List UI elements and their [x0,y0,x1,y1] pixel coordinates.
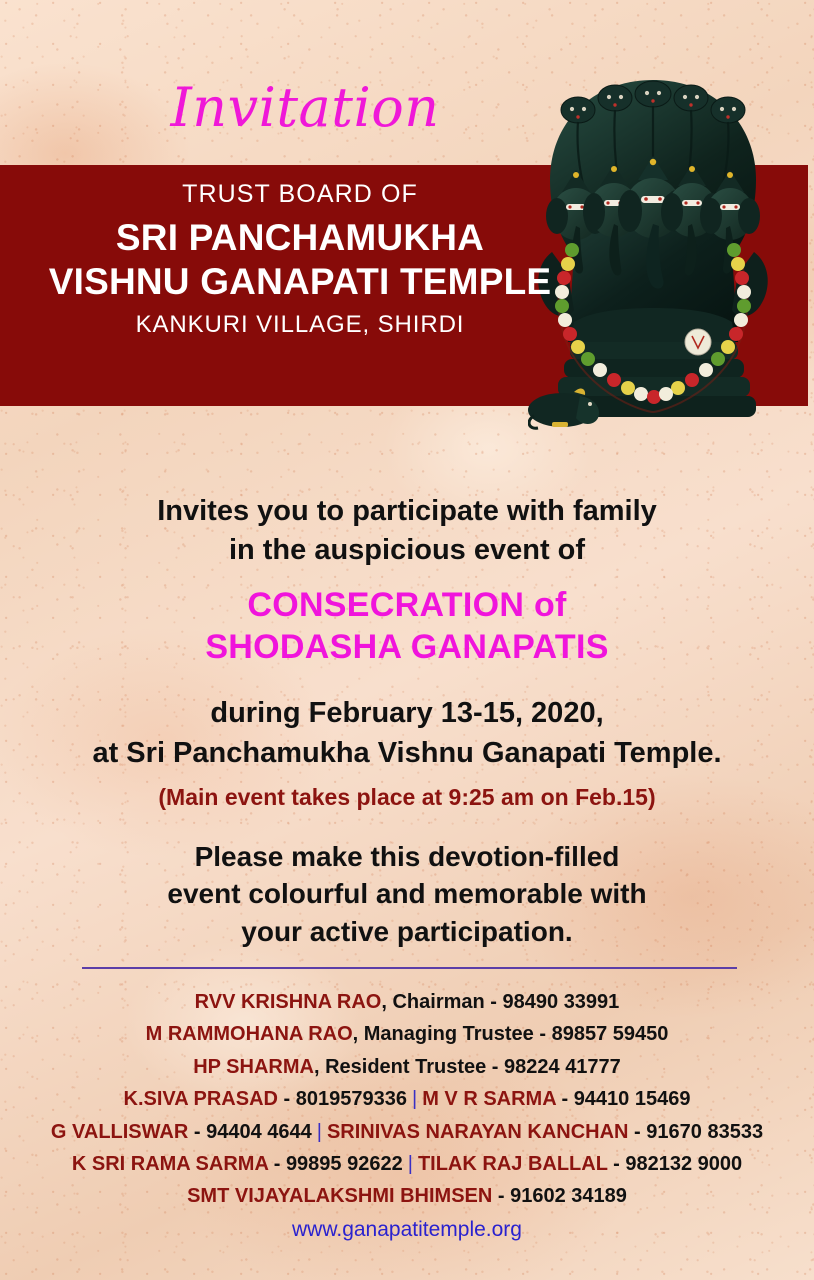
event-name-line-2: SHODASHA GANAPATIS [0,627,814,668]
banner-text-block: TRUST BOARD OF SRI PANCHAMUKHA VISHNU GA… [0,180,600,339]
contact-separator: | [407,1088,422,1110]
contact-dash: - [278,1088,296,1110]
contact-name: RVV KRISHNA RAO [195,991,382,1013]
contacts-list: RVV KRISHNA RAO, Chairman - 98490 33991M… [0,986,814,1213]
contact-role: , Managing Trustee [353,1023,534,1045]
section-divider [82,967,737,969]
contact-phone[interactable]: 98490 33991 [503,991,620,1013]
contact-phone[interactable]: 982132 9000 [625,1153,742,1175]
contact-name: G VALLISWAR [51,1121,188,1143]
contact-name: M RAMMOHANA RAO [146,1023,353,1045]
contact-row: G VALLISWAR - 94404 4644|SRINIVAS NARAYA… [0,1116,814,1148]
contact-dash: - [608,1153,626,1175]
page-title: Invitation [0,76,610,139]
invite-line-1: Invites you to participate with family [0,492,814,531]
contact-separator: | [312,1121,327,1143]
contact-dash: - [485,991,503,1013]
contact-dash: - [556,1088,574,1110]
contact-row: K.SIVA PRASAD - 8019579336|M V R SARMA -… [0,1083,814,1115]
contact-phone[interactable]: 94410 15469 [574,1088,691,1110]
contact-name: K.SIVA PRASAD [124,1088,278,1110]
event-name-line-1: CONSECRATION of [0,585,814,626]
banner-trust-board-label: TRUST BOARD OF [0,180,600,209]
banner-location: KANKURI VILLAGE, SHIRDI [0,311,600,339]
banner-temple-name-line1: SRI PANCHAMUKHA [0,216,600,260]
contact-dash: - [188,1121,206,1143]
banner-temple-name-line2: VISHNU GANAPATI TEMPLE [0,260,600,304]
contact-dash: - [534,1023,552,1045]
contact-name: K SRI RAMA SARMA [72,1153,274,1175]
invite-line-2: in the auspicious event of [0,531,814,570]
contact-phone[interactable]: 91670 83533 [646,1121,763,1143]
main-event-note: (Main event takes place at 9:25 am on Fe… [0,784,814,811]
event-venue-line: at Sri Panchamukha Vishnu Ganapati Templ… [0,734,814,773]
contact-dash: - [274,1153,286,1175]
contact-dash: - [492,1185,510,1207]
invitation-body: Invites you to participate with family i… [0,492,814,950]
idol-medallion [685,329,711,355]
invitation-card: Invitation TRUST BOARD OF SRI PANCHAMUKH… [0,0,814,1280]
please-line-3: your active participation. [0,913,814,951]
please-line-2: event colourful and memorable with [0,875,814,913]
contact-name: TILAK RAJ BALLAL [418,1153,608,1175]
contact-row: SMT VIJAYALAKSHMI BHIMSEN - 91602 34189 [0,1180,814,1212]
contact-row: HP SHARMA, Resident Trustee - 98224 4177… [0,1051,814,1083]
contact-row: RVV KRISHNA RAO, Chairman - 98490 33991 [0,986,814,1018]
contact-role: , Resident Trustee [314,1056,486,1078]
contact-phone[interactable]: 89857 59450 [552,1023,669,1045]
contact-row: M RAMMOHANA RAO, Managing Trustee - 8985… [0,1018,814,1050]
contact-phone[interactable]: 94404 4644 [206,1121,312,1143]
contact-phone[interactable]: 8019579336 [296,1088,407,1110]
contact-name: M V R SARMA [422,1088,556,1110]
please-line-1: Please make this devotion-filled [0,838,814,876]
contact-phone[interactable]: 99895 92622 [286,1153,403,1175]
contact-name: SRINIVAS NARAYAN KANCHAN [327,1121,629,1143]
contact-name: SMT VIJAYALAKSHMI BHIMSEN [187,1185,492,1207]
contact-phone[interactable]: 91602 34189 [510,1185,627,1207]
contact-dash: - [486,1056,504,1078]
contact-separator: | [403,1153,418,1175]
contact-dash: - [629,1121,647,1143]
website-link[interactable]: www.ganapatitemple.org [0,1218,814,1242]
contact-phone[interactable]: 98224 41777 [504,1056,621,1078]
contact-name: HP SHARMA [193,1056,314,1078]
event-date-line: during February 13-15, 2020, [0,694,814,733]
contact-row: K SRI RAMA SARMA - 99895 92622|TILAK RAJ… [0,1148,814,1180]
contact-role: , Chairman [381,991,484,1013]
